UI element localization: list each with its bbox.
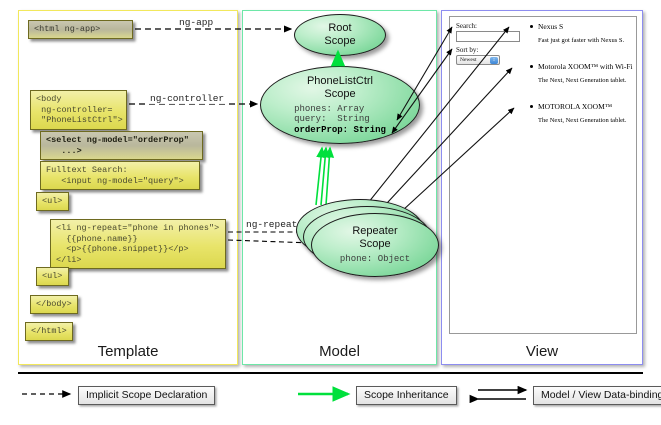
list-item[interactable]: Motorola XOOM™ with Wi-Fi The Next, Next… [538, 62, 633, 84]
scope-root: RootScope [294, 14, 386, 56]
phone-snippet: The Next, Next Generation tablet. [538, 117, 626, 124]
phone-name: Nexus S [538, 22, 624, 31]
code-box-html-open: <html ng-app> [28, 20, 133, 39]
column-model: Model [242, 10, 437, 365]
phone-snippet: The Next, Next Generation tablet. [538, 77, 633, 84]
edge-label-ng-app: ng-app [177, 17, 215, 28]
bullet-icon [530, 25, 533, 28]
phone-snippet: Fast just got faster with Nexus S. [538, 37, 624, 44]
scope-repeater-props: phone: Object [340, 254, 410, 265]
legend: Implicit Scope Declaration Scope Inherit… [18, 372, 643, 418]
code-box-ul-close: <ul> [36, 267, 69, 286]
code-box-ul-open: <ul> [36, 192, 69, 211]
bullet-icon [530, 65, 533, 68]
scope-phonelistctrl-props: phones: Array query: String orderProp: S… [294, 104, 386, 136]
column-label-model: Model [243, 343, 436, 360]
legend-item-model-view-data-binding: Model / View Data-binding [533, 386, 661, 405]
scope-repeater-title: RepeaterScope [352, 225, 397, 251]
column-label-template: Template [19, 343, 237, 360]
scope-root-title: RootScope [324, 22, 355, 48]
legend-item-implicit-scope-declaration: Implicit Scope Declaration [78, 386, 215, 405]
edge-label-ng-controller: ng-controller [148, 93, 226, 104]
view-sort-label: Sort by: [456, 46, 478, 54]
sort-select[interactable]: Newest ↕ [456, 55, 500, 65]
code-box-body-close: </body> [30, 295, 78, 314]
scope-repeater: RepeaterScope phone: Object [311, 213, 439, 277]
diagram-canvas: Template Model View <html ng-app> <body … [0, 0, 661, 425]
code-box-li-repeat: <li ng-repeat="phone in phones"> {{phone… [50, 219, 226, 269]
scope-phonelistctrl-title: PhoneListCtrlScope [307, 75, 373, 101]
scope-phonelistctrl: PhoneListCtrlScope phones: Array query: … [260, 66, 420, 144]
phone-name: MOTOROLA XOOM™ [538, 102, 626, 111]
chevron-updown-icon: ↕ [490, 57, 498, 64]
code-box-body-open: <body ng-controller= "PhoneListCtrl"> [30, 90, 127, 130]
search-input[interactable] [456, 31, 520, 42]
list-item[interactable]: MOTOROLA XOOM™ The Next, Next Generation… [538, 102, 626, 124]
column-label-view: View [442, 343, 642, 360]
code-box-html-close: </html> [25, 322, 73, 341]
bullet-icon [530, 105, 533, 108]
view-search-label: Search: [456, 22, 477, 30]
phone-name: Motorola XOOM™ with Wi-Fi [538, 62, 633, 71]
legend-item-scope-inheritance: Scope Inheritance [356, 386, 457, 405]
list-item[interactable]: Nexus S Fast just got faster with Nexus … [538, 22, 624, 44]
code-box-select-tag: <select ng-model="orderProp" ...> [40, 131, 203, 160]
code-box-search-input: Fulltext Search: <input ng-model="query"… [40, 161, 200, 190]
view-app-frame: Search: Sort by: Newest ↕ Nexus S Fast j… [449, 16, 637, 334]
edge-label-ng-repeat: ng-repeat [244, 219, 299, 230]
sort-select-value: Newest [460, 57, 477, 63]
